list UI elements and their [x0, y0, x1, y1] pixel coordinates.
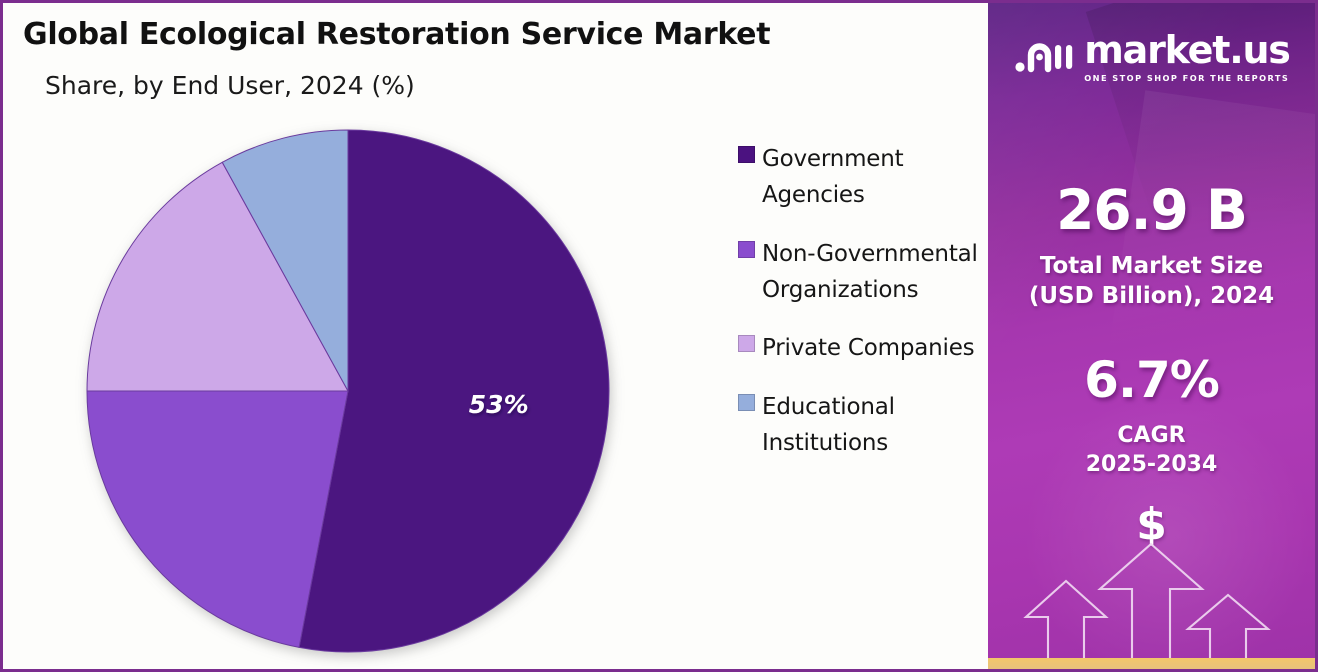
legend-item-government-agencies[interactable]: Government Agencies: [738, 141, 978, 214]
cagr-value: 6.7%: [988, 351, 1315, 409]
page-subtitle: Share, by End User, 2024 (%): [45, 71, 415, 100]
legend-item-private-companies[interactable]: Private Companies: [738, 330, 978, 366]
cagr-caption-line1: CAGR: [988, 421, 1315, 450]
chart-legend: Government Agencies Non-Governmental Org…: [738, 141, 978, 483]
logo-wordmark: market.us: [1084, 31, 1289, 69]
pie-chart: 53%: [63, 113, 643, 672]
legend-item-label: Educational Institutions: [762, 389, 978, 462]
legend-item-label: Non-Governmental Organizations: [762, 236, 978, 309]
pie-slice-group: [87, 130, 609, 652]
arrows-svg: [988, 489, 1315, 669]
side-panel: market.us ONE STOP SHOP FOR THE REPORTS …: [988, 3, 1315, 669]
legend-swatch-icon: [738, 146, 755, 163]
legend-item-label: Government Agencies: [762, 141, 978, 214]
pie-slice-label: 53%: [469, 390, 529, 419]
pie-chart-svg: 53%: [63, 113, 643, 672]
pie-label-group: 53%: [469, 390, 529, 419]
bottom-accent-strip: [988, 658, 1315, 669]
market-size-caption-line1: Total Market Size: [988, 251, 1315, 281]
growth-graphic: $: [988, 489, 1315, 669]
chart-area: Global Ecological Restoration Service Ma…: [3, 3, 988, 669]
market-size-caption: Total Market Size (USD Billion), 2024: [988, 251, 1315, 312]
legend-swatch-icon: [738, 335, 755, 352]
brand-logo[interactable]: market.us ONE STOP SHOP FOR THE REPORTS: [988, 31, 1315, 83]
up-arrow-icon: [1026, 581, 1106, 669]
market-size-value: 26.9 B: [988, 178, 1315, 242]
market-us-logo-icon: [1013, 35, 1075, 79]
chart-frame: Global Ecological Restoration Service Ma…: [0, 0, 1318, 672]
legend-item-non-governmental-organizations[interactable]: Non-Governmental Organizations: [738, 236, 978, 309]
up-arrow-icon: [1100, 544, 1202, 669]
cagr-caption-line2: 2025-2034: [988, 450, 1315, 479]
legend-swatch-icon: [738, 241, 755, 258]
logo-tagline: ONE STOP SHOP FOR THE REPORTS: [1084, 73, 1289, 83]
legend-item-educational-institutions[interactable]: Educational Institutions: [738, 389, 978, 462]
page-title: Global Ecological Restoration Service Ma…: [23, 17, 770, 52]
logo-text: market.us ONE STOP SHOP FOR THE REPORTS: [1084, 31, 1289, 83]
legend-item-label: Private Companies: [762, 330, 974, 366]
legend-swatch-icon: [738, 394, 755, 411]
cagr-caption: CAGR 2025-2034: [988, 421, 1315, 479]
market-size-caption-line2: (USD Billion), 2024: [988, 281, 1315, 311]
